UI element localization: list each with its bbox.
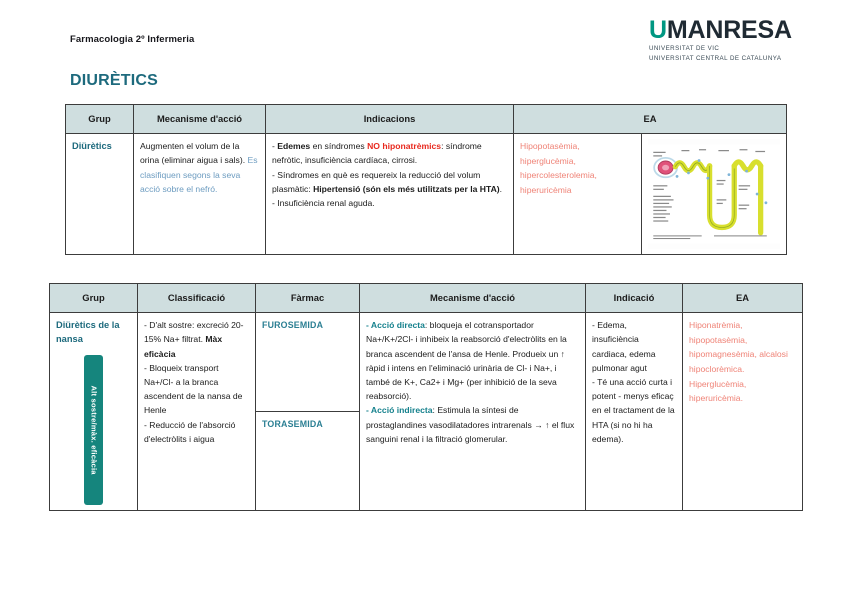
accio-directa-label: - Acció directa: [366, 320, 425, 330]
ea-text: Hipopotasèmia, hiperglucèmia, hipercoles…: [520, 141, 597, 195]
page-header: Farmacologia 2º Infermeria UMANRESA UNIV…: [0, 0, 848, 70]
column-header-farmac: Fàrmac: [256, 284, 360, 313]
accio-directa-text: : bloqueja el cotransportador Na+/K+/2Cl…: [366, 320, 567, 401]
diuretics-overview-table: Grup Mecanisme d'acció Indicacions EA Di…: [65, 104, 787, 255]
mecanisme-indirect: - Acció indirecta: Estimula la síntesi d…: [366, 403, 579, 446]
cell-ea: Hipopotasèmia, hiperglucèmia, hipercoles…: [514, 134, 642, 255]
umanresa-logo: UMANRESA UNIVERSITAT DE VIC UNIVERSITAT …: [649, 17, 824, 63]
classificacio-item-3: - Reducció de l'absorció d'electròlits i…: [144, 418, 249, 446]
accio-indirecta-label: - Acció indirecta: [366, 405, 433, 415]
column-header-grup: Grup: [50, 284, 138, 313]
ea-text-line1: Hiponatrèmia, hipopotasèmia, hipomagnesè…: [689, 318, 796, 376]
brand-wordmark: UMANRESA: [649, 17, 824, 43]
cell-classificacio: - D'alt sostre: excreció 20-15% Na+ filt…: [138, 313, 256, 510]
indicacio-item-3: - Insuficiència renal aguda.: [272, 196, 507, 210]
indicacio-item-1: - Edemes en síndromes NO hiponatrèmics: …: [272, 139, 507, 167]
cell-nephron-image: [642, 134, 787, 255]
table-row: Diürètics de la nansa Alt sostre/màx. ef…: [50, 313, 803, 412]
cell-grup: Diürètics: [66, 134, 134, 255]
column-header-indicacions: Indicacions: [266, 105, 514, 134]
table-header-row: Grup Classificació Fàrmac Mecanisme d'ac…: [50, 284, 803, 313]
ea-text-line2: Hiperglucèmia, hiperuricèmia.: [689, 377, 796, 406]
grup-label: Diürètics de la nansa: [56, 320, 120, 344]
farmac-name: TORASEMIDA: [262, 419, 323, 429]
brand-subtitle-line2: UNIVERSITAT CENTRAL DE CATALUNYA: [649, 55, 824, 63]
classificacio-item-1: - D'alt sostre: excreció 20-15% Na+ filt…: [144, 318, 249, 361]
indicacio-text-1: en síndromes: [310, 141, 367, 151]
mecanisme-direct: - Acció directa: bloqueja el cotransport…: [366, 318, 579, 403]
efficacy-badge-wrap: Alt sostre/màx. eficàcia: [56, 355, 131, 505]
grup-label: Diürètics: [72, 141, 112, 151]
column-header-mecanisme: Mecanisme d'acció: [134, 105, 266, 134]
efficacy-badge-label: Alt sostre/màx. eficàcia: [86, 385, 100, 474]
column-header-grup: Grup: [66, 105, 134, 134]
document-subject: Farmacologia 2º Infermeria: [70, 34, 194, 45]
column-header-mecanisme: Mecanisme d'acció: [360, 284, 586, 313]
hipertensio-term: Hipertensió (són els més utilitzats per …: [313, 184, 500, 194]
column-header-ea: EA: [683, 284, 803, 313]
cell-mecanisme: Augmenten el volum de la orina (eliminar…: [134, 134, 266, 255]
cell-farmac-furosemida: FUROSEMIDA: [256, 313, 360, 412]
nephron-diagram-icon: [648, 139, 780, 249]
cell-farmac-torasemida: TORASEMIDA: [256, 411, 360, 510]
cell-ea: Hiponatrèmia, hipopotasèmia, hipomagnesè…: [683, 313, 803, 510]
brand-subtitle-line1: UNIVERSITAT DE VIC: [649, 45, 824, 53]
classificacio-item-2: - Bloqueix transport Na+/Cl- a la branca…: [144, 361, 249, 418]
brand-name: MANRESA: [667, 16, 792, 44]
table-header-row: Grup Mecanisme d'acció Indicacions EA: [66, 105, 787, 134]
indicacio-text-4: .: [500, 184, 502, 194]
farmac-name: FUROSEMIDA: [262, 320, 323, 330]
page-title: DIURÈTICS: [70, 72, 158, 90]
indicacio-item-1: - Edema, insuficiència cardiaca, edema p…: [592, 318, 676, 375]
column-header-classificacio: Classificació: [138, 284, 256, 313]
table-row: Diürètics Augmenten el volum de la orina…: [66, 134, 787, 255]
cell-grup: Diürètics de la nansa Alt sostre/màx. ef…: [50, 313, 138, 510]
cell-mecanisme: - Acció directa: bloqueja el cotransport…: [360, 313, 586, 510]
cell-indicacio: - Edema, insuficiència cardiaca, edema p…: [586, 313, 683, 510]
classificacio-text-1: - D'alt sostre: excreció 20-15% Na+ filt…: [144, 320, 244, 344]
loop-diuretics-table: Grup Classificació Fàrmac Mecanisme d'ac…: [49, 283, 803, 511]
column-header-ea: EA: [514, 105, 787, 134]
mecanisme-text: Augmenten el volum de la orina (eliminar…: [140, 141, 245, 165]
no-hiponatremics-term: NO hiponatrèmics: [367, 141, 441, 151]
indicacio-item-2: - Síndromes en què es requereix la reduc…: [272, 168, 507, 196]
efficacy-badge: Alt sostre/màx. eficàcia: [84, 355, 103, 505]
column-header-indicacio: Indicació: [586, 284, 683, 313]
indicacio-item-2: - Té una acció curta i potent - menys ef…: [592, 375, 676, 446]
edemes-term: Edemes: [277, 141, 310, 151]
brand-letter-u: U: [649, 16, 667, 44]
cell-indicacions: - Edemes en síndromes NO hiponatrèmics: …: [266, 134, 514, 255]
